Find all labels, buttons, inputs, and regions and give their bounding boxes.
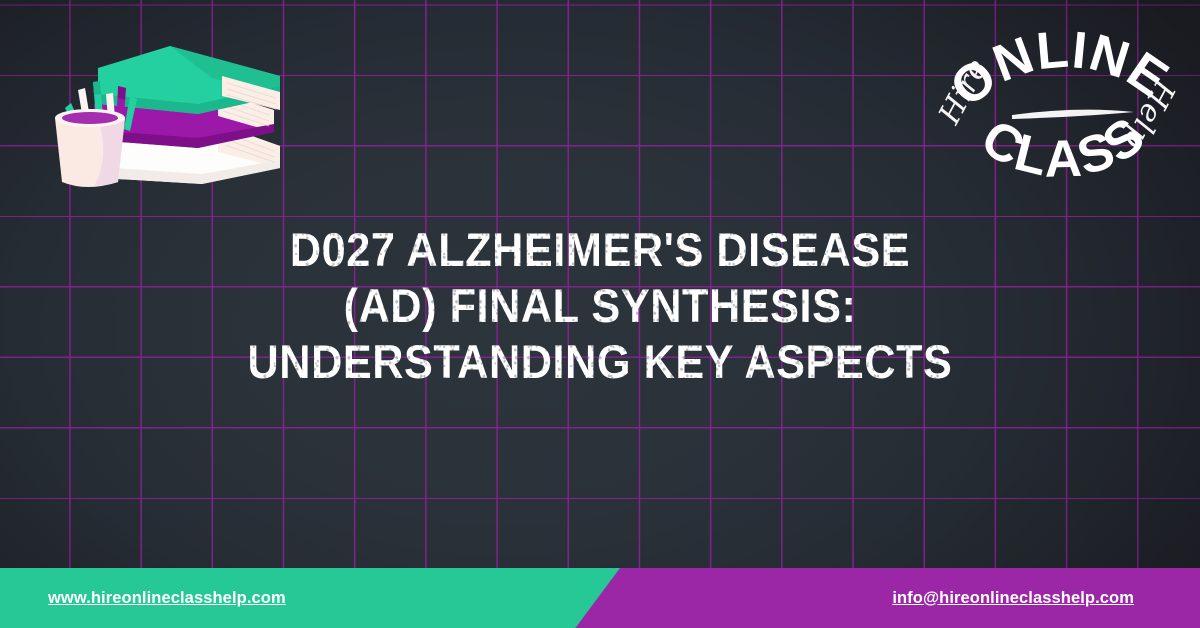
email-link[interactable]: info@hireonlineclasshelp.com [892, 568, 1134, 628]
pencil-cup [55, 109, 125, 187]
website-link[interactable]: www.hireonlineclasshelp.com [48, 568, 286, 628]
title-line-1: D027 ALZHEIMER'S DISEASE [177, 222, 1023, 278]
course-banner: ONLINE CLASS Hire Help D027 ALZHEIMER'S … [0, 0, 1200, 628]
title-line-2: (AD) FINAL SYNTHESIS: [177, 278, 1023, 334]
books-illustration [22, 38, 288, 200]
page-title: D027 ALZHEIMER'S DISEASE (AD) FINAL SYNT… [48, 222, 1152, 390]
footer-bar: www.hireonlineclasshelp.com info@hireonl… [0, 568, 1200, 628]
brand-logo[interactable]: ONLINE CLASS Hire Help [926, 18, 1194, 186]
title-line-3: UNDERSTANDING KEY ASPECTS [177, 334, 1023, 390]
